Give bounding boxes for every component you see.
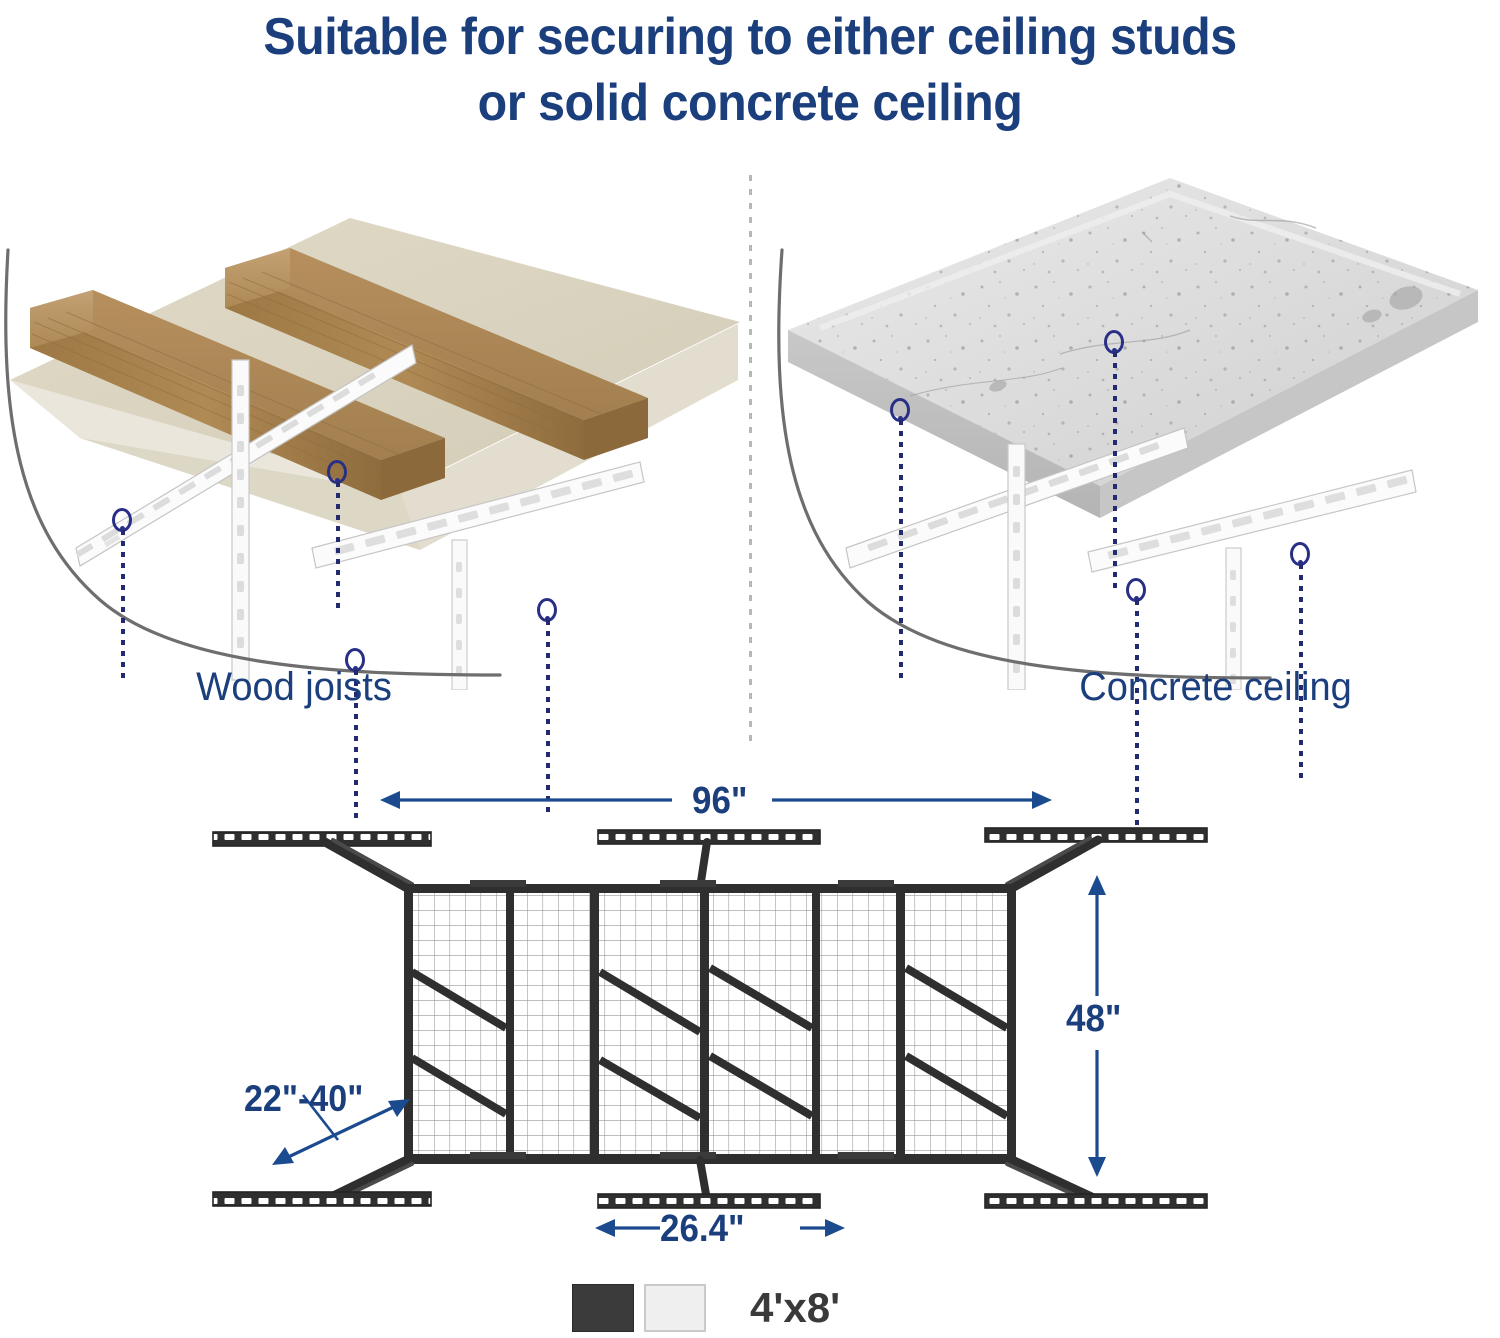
dimension-label-drop: 22"-40" <box>244 1078 363 1120</box>
marker-drop-line <box>121 530 125 678</box>
rack-body <box>404 880 1016 1164</box>
frame-rail-left <box>404 884 413 1164</box>
legend-swatch-dark <box>572 1284 634 1332</box>
panel-concrete-ceiling: Concrete ceiling <box>760 170 1500 750</box>
marker-drop-line <box>899 420 903 678</box>
marker-drop-line <box>1113 352 1117 588</box>
concrete-ceiling-illustration <box>760 170 1500 690</box>
ceiling-bracket-bottom-left <box>213 1192 431 1206</box>
panel-wood-joists: Wood joists <box>0 170 740 750</box>
wood-joist-illustration <box>0 170 740 690</box>
panel-divider <box>749 175 752 745</box>
legend-size-label: 4'x8' <box>750 1284 840 1332</box>
frame-rail-right <box>1007 884 1016 1164</box>
page-title: Suitable for securing to either ceiling … <box>53 4 1448 136</box>
mount-post-rear <box>232 360 249 680</box>
dimension-label-width: 96" <box>692 780 747 823</box>
page-title-line-1: Suitable for securing to either ceiling … <box>53 4 1448 70</box>
dimension-label-height: 48" <box>1066 998 1121 1041</box>
panel-caption-concrete-ceiling: Concrete ceiling <box>779 665 1482 710</box>
marker-drop-line <box>336 482 340 610</box>
ceiling-brackets-bottom <box>213 1192 1207 1208</box>
page-title-line-2: or solid concrete ceiling <box>53 70 1448 136</box>
legend-swatch-light <box>644 1284 706 1332</box>
ceiling-bracket-bottom-right <box>985 1194 1207 1208</box>
panel-caption-wood-joists: Wood joists <box>19 665 722 710</box>
mount-post-rear <box>1008 444 1025 690</box>
ceiling-bracket-bottom-middle <box>598 1194 820 1208</box>
dimension-label-depth: 26.4" <box>660 1208 745 1251</box>
legend: 4'x8' <box>0 1284 1500 1338</box>
rack-dimension-diagram <box>0 760 1500 1280</box>
